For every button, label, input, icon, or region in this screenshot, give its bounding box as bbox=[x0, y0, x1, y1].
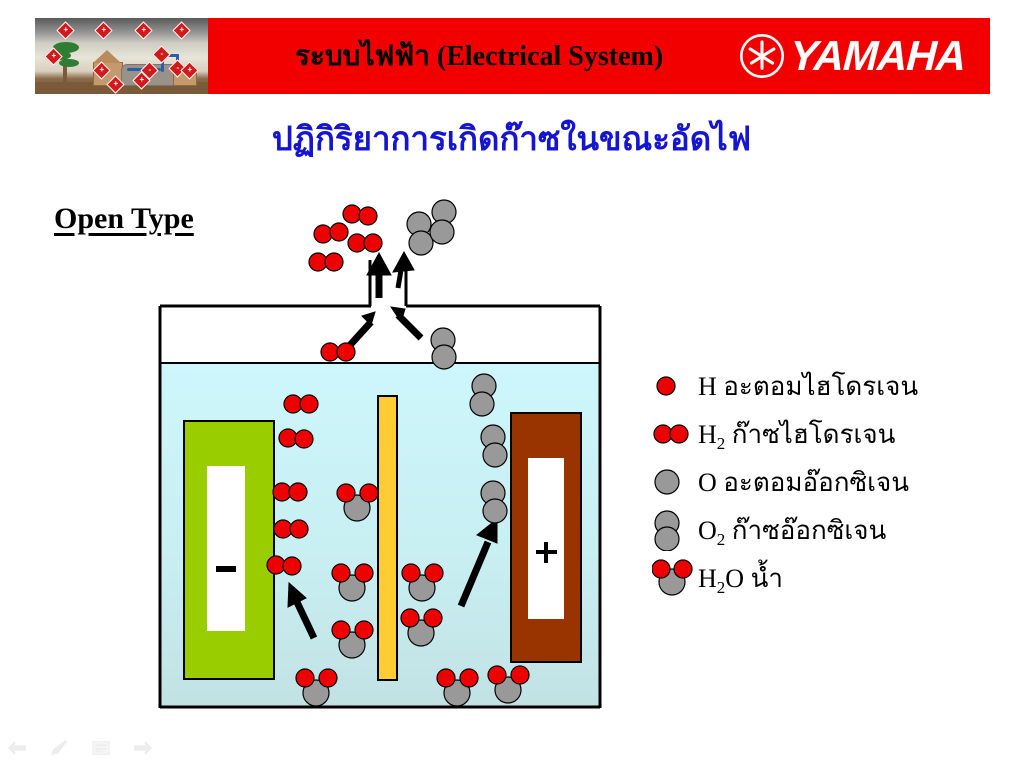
legend-item-h2o: H2O น้ำ bbox=[652, 554, 1012, 602]
legend-label-o2: O2 ก๊าซอ๊อกซิเจน bbox=[698, 510, 886, 551]
minus-sign bbox=[216, 566, 236, 572]
legend-item-o2: O2 ก๊าซอ๊อกซิเจน bbox=[652, 506, 1012, 554]
negative-plate bbox=[184, 421, 274, 679]
arrow-o2-rise bbox=[393, 252, 414, 288]
legend-label-h2o: H2O น้ำ bbox=[698, 558, 783, 599]
slide-navigation-bar[interactable] bbox=[6, 738, 154, 758]
h-atom-icon bbox=[652, 372, 698, 400]
legend-label-o-atom: O อะตอมอ๊อกซิเจน bbox=[698, 462, 909, 503]
h2-molecule-icon bbox=[652, 420, 698, 448]
legend-item-h-atom: H อะตอมไฮโดรเจน bbox=[652, 362, 1012, 410]
legend-item-h2: H2 ก๊าซไฮโดรเจน bbox=[652, 410, 1012, 458]
legend-label-h-atom: H อะตอมไฮโดรเจน bbox=[698, 366, 918, 407]
o2-molecule-icon bbox=[652, 509, 698, 551]
pen-tool-icon[interactable] bbox=[48, 738, 70, 758]
legend-label-h2: H2 ก๊าซไฮโดรเจน bbox=[698, 414, 895, 455]
legend-item-o-atom: O อะตอมอ๊อกซิเจน bbox=[652, 458, 1012, 506]
positive-plate bbox=[511, 413, 581, 662]
o-atom-icon bbox=[652, 467, 698, 497]
molecule-legend: H อะตอมไฮโดรเจน H2 ก๊าซไฮโดรเจน O อะตอมอ… bbox=[652, 362, 1012, 602]
previous-slide-icon[interactable] bbox=[6, 738, 28, 758]
h2o-molecule-icon bbox=[652, 558, 698, 598]
next-slide-icon[interactable] bbox=[132, 738, 154, 758]
separator-plate bbox=[378, 396, 397, 680]
menu-icon[interactable] bbox=[90, 738, 112, 758]
